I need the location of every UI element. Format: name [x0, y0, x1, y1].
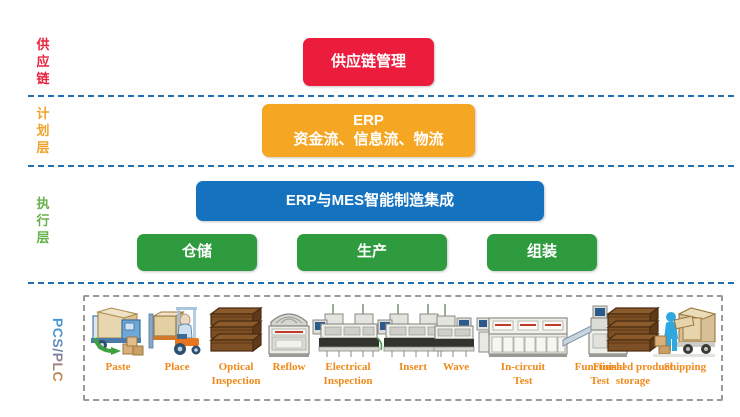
layer-label-char: 供 [26, 36, 60, 53]
station-label: Wave [443, 361, 469, 375]
node-label-line1: ERP [353, 112, 384, 131]
station-label: Shipping [664, 361, 706, 375]
layer-label-planning: 计 划 层 [26, 105, 60, 156]
station-label: In-circuit Test [501, 361, 545, 389]
node-label: ERP与MES智能制造集成 [286, 192, 454, 211]
diagram-canvas: 供 应 链 计 划 层 执 行 层 PCS/PLC 供应链管理 ERP 资金流、… [0, 0, 740, 417]
node-label: 生产 [357, 243, 387, 262]
node-supply-chain-management[interactable]: 供应链管理 [303, 38, 434, 86]
station-electrical-inspection[interactable]: Electrical Inspection [313, 300, 383, 389]
layer-label-char: 计 [26, 105, 60, 122]
node-label: 仓储 [182, 243, 212, 262]
stacked-crates-icon [207, 300, 265, 360]
node-label-line2: 资金流、信息流、物流 [293, 131, 443, 150]
layer-label-pcs-plc-text: PCS/PLC [50, 318, 66, 382]
node-assembly[interactable]: 组装 [487, 234, 597, 271]
node-warehouse[interactable]: 仓储 [137, 234, 257, 271]
station-reflow[interactable]: Reflow [262, 300, 316, 375]
station-label: Reflow [273, 361, 306, 375]
station-label: Insert [399, 361, 427, 375]
station-paste[interactable]: Paste [88, 300, 148, 375]
node-production[interactable]: 生产 [297, 234, 447, 271]
divider-planning-execution [28, 165, 734, 167]
layer-label-execution: 执 行 层 [26, 195, 60, 246]
divider-execution-control [28, 282, 734, 284]
station-label: Place [164, 361, 189, 375]
station-place[interactable]: Place [146, 300, 208, 375]
station-wave[interactable]: Wave [432, 300, 480, 375]
layer-label-char: 行 [26, 212, 60, 229]
station-optical-inspection[interactable]: Optical Inspection [205, 300, 267, 389]
reflow-oven-icon [263, 300, 315, 360]
station-label: Paste [105, 361, 130, 375]
station-label: Electrical Inspection [324, 361, 373, 389]
layer-label-char: 执 [26, 195, 60, 212]
smt-machine-icon [433, 300, 479, 360]
station-in-circuit-test[interactable]: In-circuit Test [480, 300, 566, 389]
delivery-truck-icon [89, 300, 147, 360]
divider-supply-planning [28, 95, 734, 97]
smt-machine-icon [311, 300, 385, 360]
layer-label-char: 链 [26, 70, 60, 87]
layer-label-char: 划 [26, 122, 60, 139]
node-label: 供应链管理 [331, 53, 406, 72]
node-label: 组装 [527, 243, 557, 262]
layer-label-char: 应 [26, 53, 60, 70]
station-shipping[interactable]: Shipping [653, 300, 717, 375]
node-erp-mes-integration[interactable]: ERP与MES智能制造集成 [196, 181, 544, 221]
layer-label-supply-chain: 供 应 链 [26, 36, 60, 87]
station-label: Optical Inspection [212, 361, 261, 389]
loading-truck-icon [653, 300, 717, 360]
forklift-icon [147, 300, 207, 360]
layer-label-char: 层 [26, 139, 60, 156]
layer-label-char: 层 [26, 229, 60, 246]
node-erp[interactable]: ERP 资金流、信息流、物流 [262, 104, 475, 157]
test-rack-icon [475, 300, 571, 360]
